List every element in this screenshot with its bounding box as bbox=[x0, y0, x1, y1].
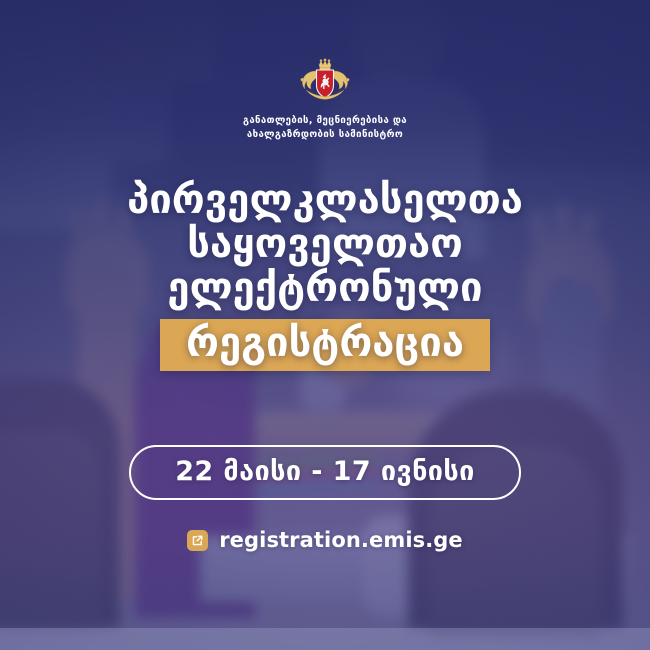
external-link-icon[interactable] bbox=[187, 530, 208, 551]
headline-line-3: ელექტრონული bbox=[127, 266, 523, 310]
registration-highlight-badge: რეგისტრაცია bbox=[160, 319, 490, 371]
registration-link[interactable]: registration.emis.ge bbox=[187, 528, 463, 552]
headline-line-2: საყოველთაო bbox=[127, 222, 523, 266]
headline-line-1: პირველკლასელთა bbox=[127, 178, 523, 222]
ministry-name: განათლების, მეცნიერებისა და ახალგაზრდობი… bbox=[243, 114, 407, 142]
georgia-coat-of-arms-icon bbox=[299, 58, 351, 106]
poster-content: განათლების, მეცნიერებისა და ახალგაზრდობი… bbox=[0, 0, 650, 650]
headline: პირველკლასელთა საყოველთაო ელექტრონული რე… bbox=[127, 178, 523, 371]
ministry-name-line1: განათლების, მეცნიერებისა და bbox=[243, 114, 407, 128]
poster-banner: განათლების, მეცნიერებისა და ახალგაზრდობი… bbox=[0, 0, 650, 650]
date-range-pill: 22 მაისი - 17 ივნისი bbox=[129, 445, 521, 500]
ministry-branding: განათლების, მეცნიერებისა და ახალგაზრდობი… bbox=[243, 58, 407, 142]
ministry-name-line2: ახალგაზრდობის სამინისტრო bbox=[243, 128, 407, 142]
registration-url-text[interactable]: registration.emis.ge bbox=[219, 528, 463, 552]
